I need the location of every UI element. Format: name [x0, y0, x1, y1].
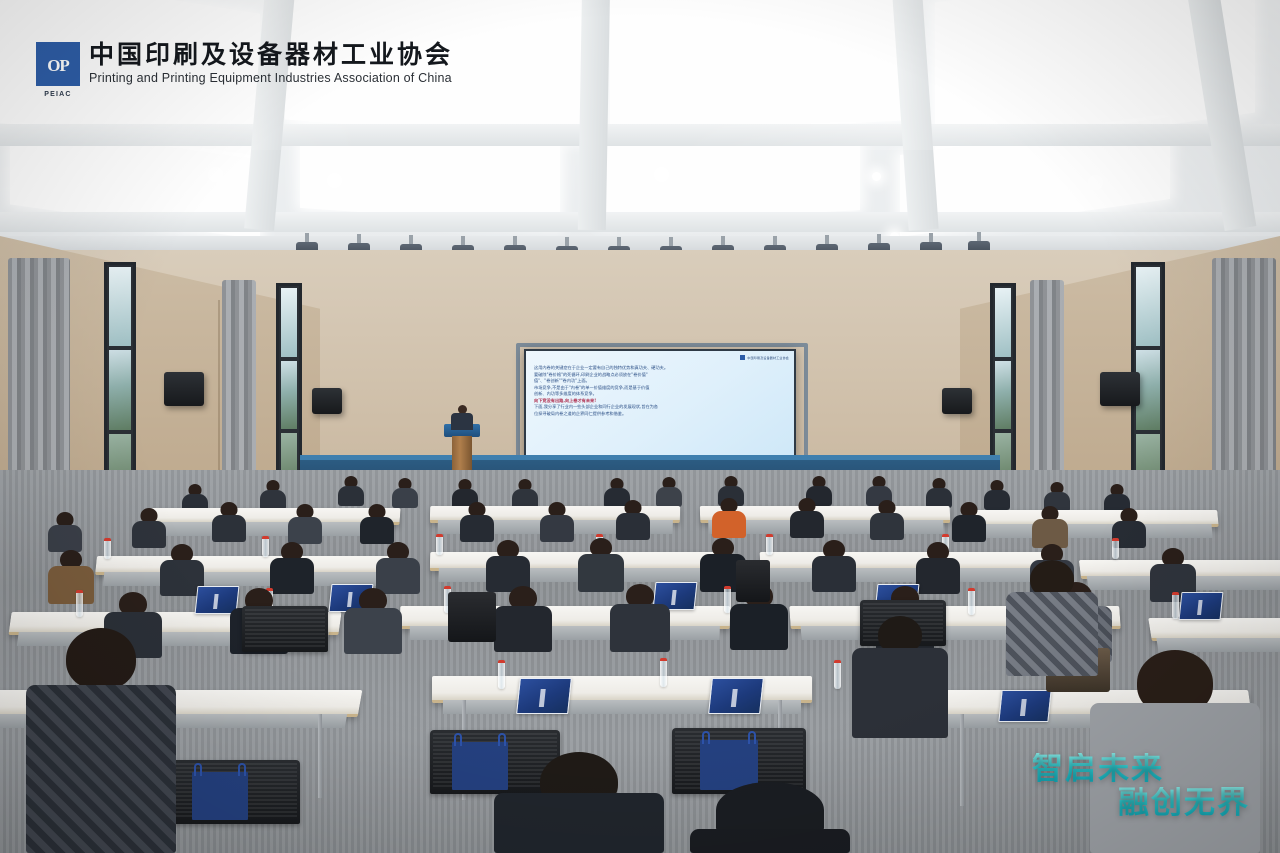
association-logo: OP PEIAC 中国印刷及设备器材工业协会 Printing and Prin… [36, 42, 453, 86]
window-pane [109, 267, 131, 346]
slide: 中国印刷及设备器材工业协会 这用内卷的关键症在于企业一定要有自己的独特优势和真功… [526, 351, 794, 457]
water-bottle [498, 660, 505, 689]
program-booklet[interactable] [998, 690, 1051, 722]
attendee [376, 542, 420, 594]
water-bottle [1172, 592, 1179, 619]
audience-chair[interactable] [242, 606, 328, 652]
recessed-downlight-icon [872, 172, 881, 181]
water-bottle [262, 536, 269, 557]
recessed-downlight-icon [211, 170, 220, 179]
wall-speaker [1100, 372, 1140, 406]
association-name-en: Printing and Printing Equipment Industri… [89, 71, 453, 85]
wall-speaker [164, 372, 204, 406]
association-name-cn: 中国印刷及设备器材工业协会 [89, 42, 453, 68]
attendee [656, 477, 682, 507]
desk-leg [318, 714, 322, 798]
water-bottle [968, 588, 975, 615]
tote-bag[interactable] [192, 772, 248, 820]
attendee [338, 476, 364, 506]
attendee-foreground [852, 616, 948, 738]
stage-trim [300, 455, 1000, 460]
attendee-foreground [494, 752, 664, 853]
attendee-fur [1032, 506, 1068, 548]
attendee [494, 586, 552, 652]
recessed-downlight-icon [1091, 178, 1100, 187]
attendee [790, 498, 824, 538]
association-name: 中国印刷及设备器材工业协会 Printing and Printing Equi… [89, 42, 453, 85]
ceiling-beam [0, 124, 1280, 146]
attendee [610, 584, 670, 652]
window-pane [1136, 267, 1160, 346]
water-bottle [1112, 538, 1119, 559]
attendee-foreground [1090, 650, 1260, 853]
wall-speaker [942, 388, 972, 414]
attendee-desk [967, 510, 1218, 527]
attendee [132, 508, 166, 548]
attendee [270, 542, 314, 594]
water-bottle [766, 534, 773, 555]
podium-column [452, 436, 472, 470]
attendee [616, 500, 650, 540]
logo-abbr: PEIAC [36, 91, 80, 98]
attendee [512, 479, 538, 509]
attendee-desk [95, 556, 397, 575]
attendee [288, 504, 322, 544]
water-bottle [104, 538, 111, 559]
attendee [926, 478, 952, 508]
window-pane [995, 288, 1011, 357]
slide-logo: 中国印刷及设备器材工业协会 [740, 355, 789, 360]
speaker-podium [444, 424, 480, 470]
ceiling [0, 0, 1280, 250]
water-bottle [660, 658, 667, 687]
attendee [984, 480, 1010, 510]
slide-text: 这用内卷的关键症在于企业一定要有自己的独特优势和真功夫、硬功夫。 要破除"卷价格… [534, 365, 788, 417]
window-pane [281, 288, 297, 357]
window-pane [995, 361, 1011, 430]
attendee [360, 504, 394, 544]
attendee [260, 480, 286, 510]
program-booklet[interactable] [516, 678, 572, 714]
attendee [344, 588, 402, 654]
water-bottle [834, 660, 841, 689]
backpack [736, 560, 770, 602]
attendee [486, 540, 530, 592]
logo-initials: OP [47, 57, 69, 74]
ceiling-light-panel [610, 0, 910, 136]
desk-leg [960, 714, 964, 806]
ceiling-beam [0, 212, 1280, 232]
ceiling-beam [578, 0, 610, 230]
attendee [392, 478, 418, 508]
attendee-foreground [1006, 560, 1098, 676]
slide-logo-text: 中国印刷及设备器材工业协会 [747, 356, 789, 360]
attendee [48, 550, 94, 604]
attendee [812, 540, 856, 592]
conference-hall-photo: 中国印刷及设备器材工业协会 这用内卷的关键症在于企业一定要有自己的独特优势和真功… [0, 0, 1280, 853]
attendee-foreground [26, 628, 176, 853]
attendee [212, 502, 246, 542]
recessed-downlight-icon [330, 176, 339, 185]
water-bottle [76, 590, 83, 617]
attendee-with-cap [690, 782, 850, 853]
water-bottle [436, 534, 443, 555]
attendee-desk [1148, 618, 1280, 641]
program-booklet[interactable] [708, 678, 764, 714]
wall-speaker [312, 388, 342, 414]
attendee [952, 502, 986, 542]
attendee [48, 512, 82, 552]
attendee [540, 502, 574, 542]
presenter-person [451, 405, 473, 429]
attendee [460, 502, 494, 542]
window-pane [109, 350, 131, 429]
slide-logo-mark [740, 355, 745, 360]
attendee-orange [712, 498, 746, 538]
slide-line: 位探寻破局内卷之道的企界同仁提供参考和借鉴。 [534, 411, 788, 418]
presenter-torso [451, 413, 473, 430]
backpack [448, 592, 496, 642]
window-pane [281, 361, 297, 430]
program-booklet[interactable] [1179, 592, 1224, 620]
projection-screen[interactable]: 中国印刷及设备器材工业协会 这用内卷的关键症在于企业一定要有自己的独特优势和真功… [524, 349, 796, 459]
recessed-downlight-icon [657, 170, 666, 179]
attendee [870, 500, 904, 540]
peiac-logo-mark-icon: OP PEIAC [36, 42, 80, 86]
